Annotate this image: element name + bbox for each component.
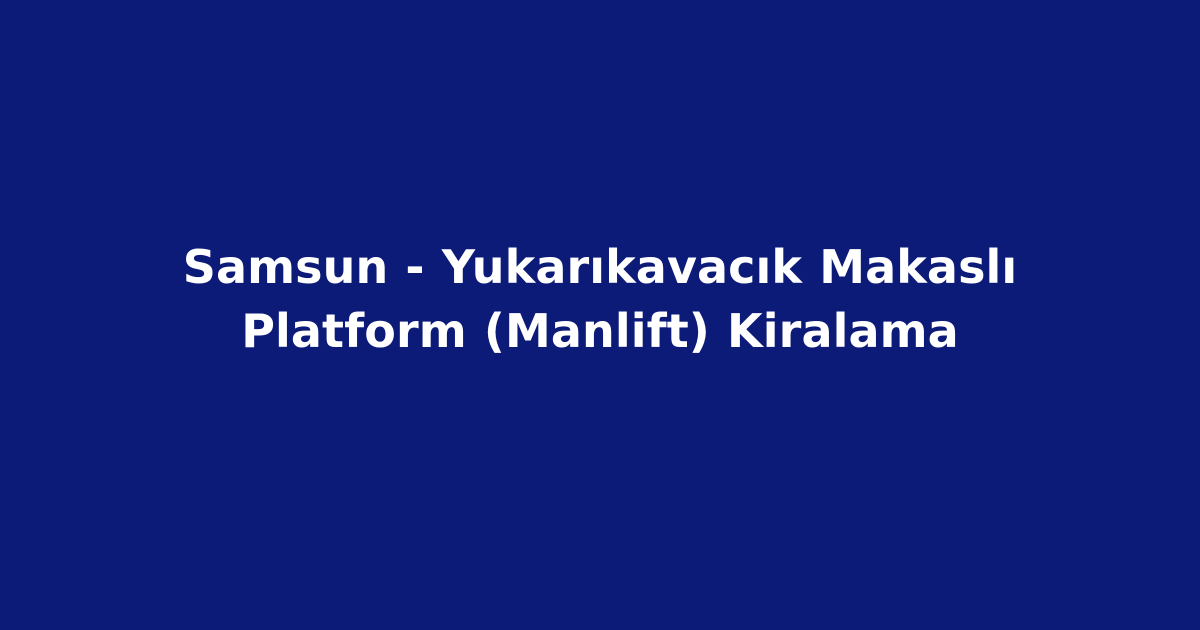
share-card: Samsun - Yukarıkavacık Makaslı Platform … — [0, 0, 1200, 630]
share-card-content: Samsun - Yukarıkavacık Makaslı Platform … — [80, 235, 1120, 363]
page-title: Samsun - Yukarıkavacık Makaslı Platform … — [180, 235, 1020, 363]
